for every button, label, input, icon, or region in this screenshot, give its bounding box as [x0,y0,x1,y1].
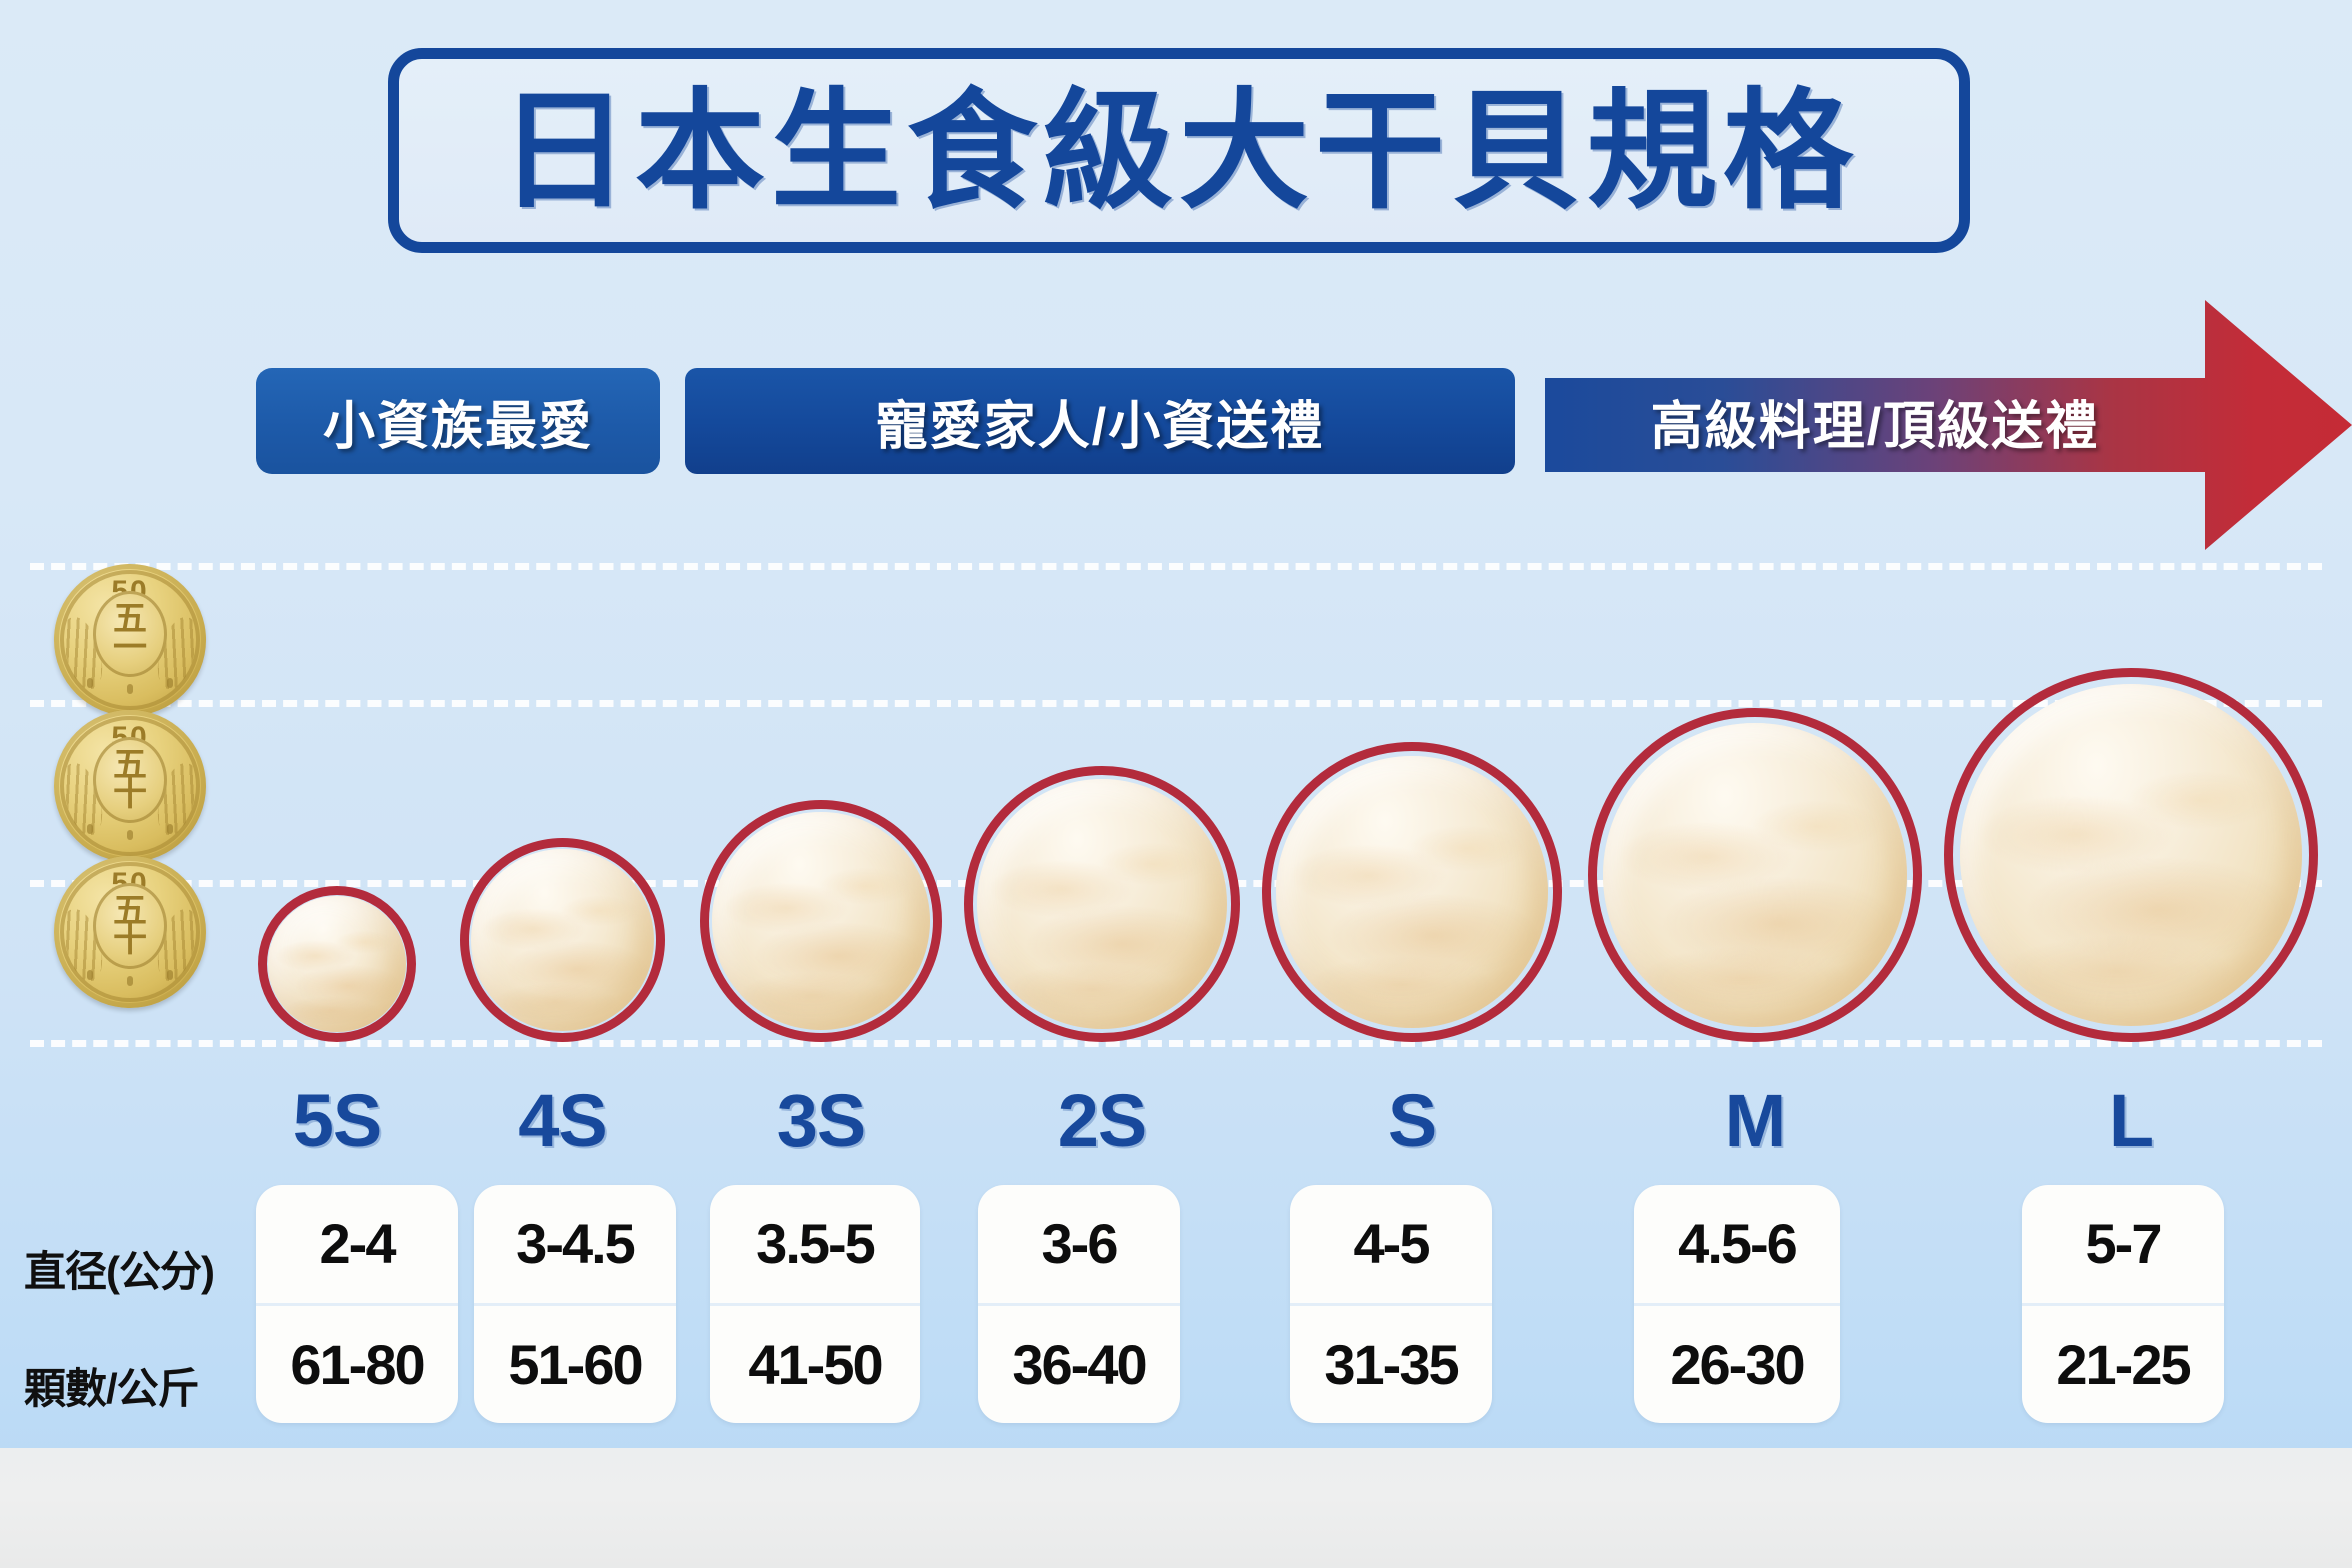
bottom-strip [0,1448,2352,1568]
tier-banner-premium[interactable]: 高級料理/頂級送禮 [1545,368,2205,474]
size-label-4s: 4S [460,1078,665,1163]
table-cell-diameter: 3-6 [978,1185,1180,1306]
table-cell-diameter: 3-4.5 [474,1185,676,1306]
coin-kanji: 五十 [113,897,147,955]
size-label-5s: 5S [258,1078,416,1163]
coin-kanji: 五一 [113,605,147,663]
infographic-poster: 日本生食級大干貝規格 小資族最愛 寵愛家人/小資送禮 高級料理/頂級送禮 50 … [0,0,2352,1568]
scallop-ring [460,838,665,1042]
size-label-m: M [1588,1078,1922,1163]
coin-center: 五十 [93,737,167,823]
scallop-ring [258,886,416,1042]
coin-kanji: 五十 [113,751,147,809]
scallop-ring [964,766,1240,1042]
table-column-s: 4-5 31-35 [1290,1185,1492,1423]
scallop-l [1944,668,2318,1042]
page-title: 日本生食級大干貝規格 [499,86,1859,216]
table-column-5s: 2-4 61-80 [256,1185,458,1423]
size-label-l: L [1944,1078,2318,1163]
table-cell-diameter: 5-7 [2022,1185,2224,1306]
scallop-ring [1588,708,1922,1042]
page-title-box: 日本生食級大干貝規格 [388,48,1970,253]
scallop-4s [460,838,665,1042]
scallop-3s [700,800,942,1042]
table-column-2s: 3-6 36-40 [978,1185,1180,1423]
coin-dots [87,974,173,986]
row-label-diameter: 直径(公分) [24,1238,214,1299]
scallop-m [1588,708,1922,1042]
table-cell-count: 31-35 [1290,1306,1492,1424]
table-cell-count: 21-25 [2022,1306,2224,1424]
row-label-count: 顆數/公斤 [24,1355,199,1416]
scallop-ring [700,800,942,1042]
table-cell-diameter: 3.5-5 [710,1185,920,1306]
scallop-ring [1262,742,1562,1042]
scallop-s [1262,742,1562,1042]
coin-dots [87,682,173,694]
table-cell-count: 41-50 [710,1306,920,1424]
tier-banner-family-gift[interactable]: 寵愛家人/小資送禮 [685,368,1515,474]
coin-dots [87,828,173,840]
table-cell-diameter: 2-4 [256,1185,458,1306]
table-cell-diameter: 4-5 [1290,1185,1492,1306]
size-label-3s: 3S [700,1078,942,1163]
guide-line-1 [30,563,2322,570]
table-cell-count: 36-40 [978,1306,1180,1424]
coin-center: 五十 [93,883,167,969]
size-label-2s: 2S [964,1078,1240,1163]
coin-center: 五一 [93,591,167,677]
coin-reference-1: 50 五一 [54,564,206,716]
scallop-5s [258,886,416,1042]
coin-reference-2: 50 五十 [54,710,206,862]
table-cell-count: 26-30 [1634,1306,1840,1424]
tier-banner-budget[interactable]: 小資族最愛 [256,368,660,474]
table-column-4s: 3-4.5 51-60 [474,1185,676,1423]
size-label-s: S [1262,1078,1562,1163]
table-column-3s: 3.5-5 41-50 [710,1185,920,1423]
table-cell-diameter: 4.5-6 [1634,1185,1840,1306]
scallop-ring [1944,668,2318,1042]
table-cell-count: 61-80 [256,1306,458,1424]
table-column-m: 4.5-6 26-30 [1634,1185,1840,1423]
scallop-2s [964,766,1240,1042]
coin-reference-3: 50 五十 [54,856,206,1008]
table-column-l: 5-7 21-25 [2022,1185,2224,1423]
table-cell-count: 51-60 [474,1306,676,1424]
